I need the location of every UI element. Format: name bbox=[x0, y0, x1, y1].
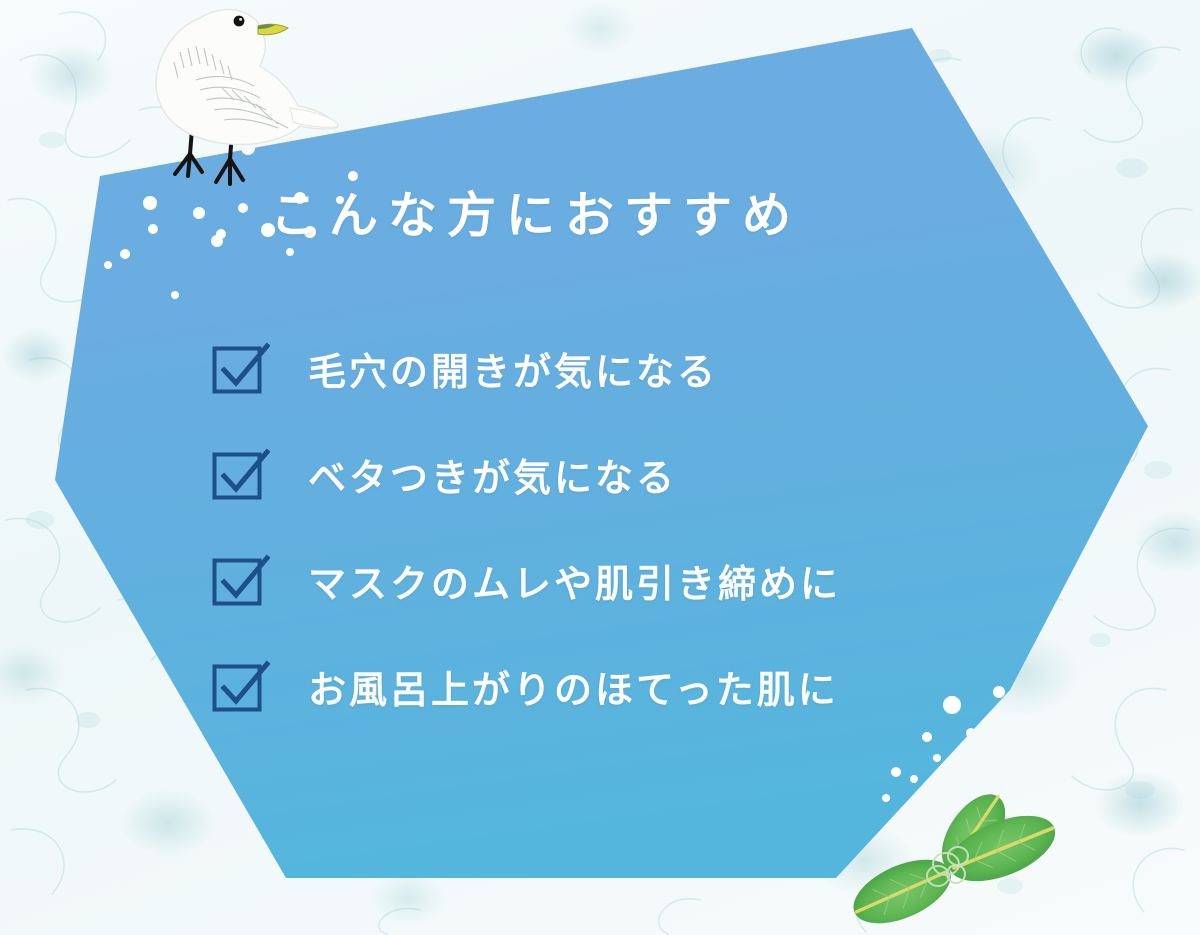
checkbox-checked-icon bbox=[212, 554, 270, 606]
list-item-label: マスクのムレや肌引き締めに bbox=[308, 553, 841, 608]
checkbox-checked-icon bbox=[212, 342, 270, 394]
mint-leaves-icon bbox=[838, 768, 1070, 935]
list-item-label: お風呂上がりのほてった肌に bbox=[308, 659, 839, 714]
recommendation-list: 毛穴の開きが気になる ベタつきが気になる マ bbox=[212, 332, 841, 722]
checkbox-checked-icon bbox=[212, 660, 270, 712]
list-item: お風呂上がりのほてった肌に bbox=[212, 650, 841, 722]
list-item: マスクのムレや肌引き締めに bbox=[212, 544, 841, 616]
promo-banner: こんな方におすすめ 毛穴の開きが気になる ベタ bbox=[0, 0, 1200, 935]
list-item-label: ベタつきが気になる bbox=[308, 447, 677, 502]
list-item: 毛穴の開きが気になる bbox=[212, 332, 841, 404]
list-item-label: 毛穴の開きが気になる bbox=[308, 341, 718, 396]
list-item: ベタつきが気になる bbox=[212, 438, 841, 510]
checkbox-checked-icon bbox=[212, 448, 270, 500]
seagull-icon bbox=[140, 0, 350, 201]
